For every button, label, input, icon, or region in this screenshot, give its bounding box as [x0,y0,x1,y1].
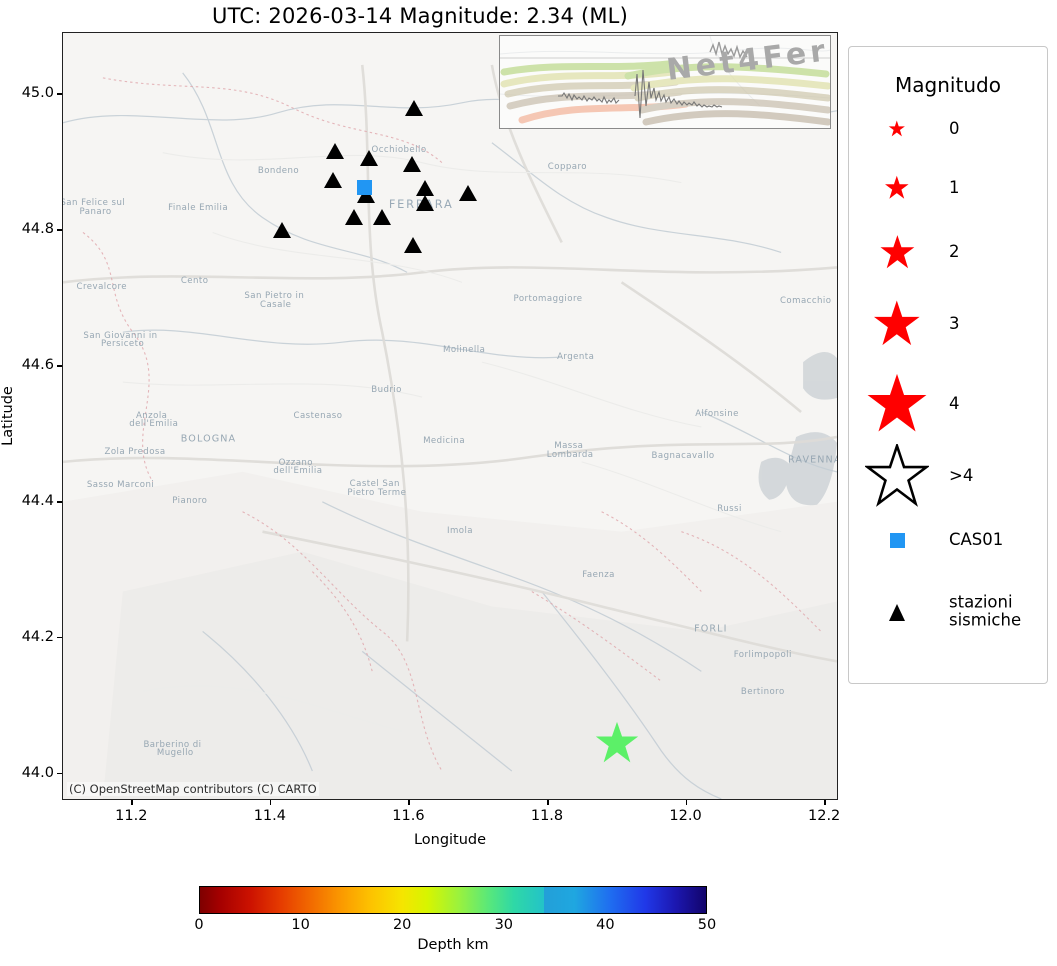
city-label: Pianoro [172,496,207,506]
y-axis-tick-label: 44.4 [14,493,54,509]
cas01-station-marker[interactable] [357,180,372,195]
colorbar-tick-label: 40 [596,917,614,933]
city-label: Forlimpopoli [734,650,792,660]
city-label: Castenaso [294,411,343,421]
city-label: dell'Emilia [129,419,178,429]
city-label: Medicina [423,436,465,446]
colorbar-label: Depth km [417,937,488,953]
x-axis-tick [824,800,826,805]
city-label: Lombarda [547,450,594,460]
city-label: Argenta [557,352,594,362]
legend-title: Magnitudo [849,73,1047,97]
legend-item-label: 2 [949,243,960,261]
y-axis-tick-label: 44.6 [14,357,54,373]
x-axis-tick-label: 11.4 [254,808,286,824]
net4fer-logo-inset: Net4Fer [499,35,831,129]
city-label: Mugello [157,748,194,758]
city-label: Persiceto [101,339,144,349]
x-axis-tick-label: 11.8 [531,808,563,824]
city-label: BOLOGNA [181,433,236,444]
legend-item-label: stazionisismiche [949,594,1021,631]
seismic-station-marker[interactable] [416,195,434,211]
city-label: Alfonsine [695,409,739,419]
y-axis-tick [57,365,62,367]
city-label: Occhiobello [372,145,427,155]
seismic-station-marker[interactable] [360,150,378,166]
y-axis-tick [57,773,62,775]
city-label: Bagnacavallo [652,451,715,461]
colorbar-tick-label: 0 [194,917,203,933]
seismic-station-marker[interactable] [326,143,344,159]
city-label: Panaro [80,207,112,217]
x-axis-tick-label: 11.2 [115,808,147,824]
x-axis-tick-label: 11.6 [392,808,424,824]
y-axis-tick-label: 44.2 [14,629,54,645]
city-label: Imola [447,526,473,536]
colorbar-tick-label: 30 [495,917,513,933]
seismic-station-marker[interactable] [459,185,477,201]
map-attribution: (C) OpenStreetMap contributors (C) CARTO [67,782,319,796]
legend-item-label: CAS01 [949,531,1003,549]
city-label: Finale Emilia [168,203,228,213]
city-label: Casale [260,300,291,310]
city-label: Crevalcore [77,282,128,292]
city-label: Comacchio [780,296,832,306]
city-label: Pietro Terme [347,488,406,498]
city-label: dell'Emilia [273,466,322,476]
legend-item-label: 4 [949,395,960,413]
colorbar-tick-label: 50 [698,917,716,933]
depth-colorbar[interactable] [199,886,707,914]
city-label: RAVENNA [788,454,838,465]
x-axis-tick [686,800,688,805]
seismic-station-marker[interactable] [324,172,342,188]
city-label: Budrio [371,385,402,395]
y-axis-tick [57,93,62,95]
page-title: UTC: 2026-03-14 Magnitude: 2.34 (ML) [0,4,840,28]
x-axis-tick-label: 12.0 [669,808,701,824]
legend-item-label: 3 [949,315,960,333]
legend-item-label: 0 [949,120,960,138]
city-label: Portomaggiore [514,294,583,304]
legend-item-label: >4 [949,467,973,485]
seismic-station-marker[interactable] [345,209,363,225]
earthquake-epicenter-star[interactable] [594,720,640,766]
seismic-station-marker[interactable] [416,180,434,196]
city-label: Faenza [582,570,615,580]
x-axis-tick [131,800,133,805]
y-axis-tick [57,637,62,639]
city-label: Copparo [548,162,587,172]
city-label: Cento [181,276,209,286]
x-axis-tick [408,800,410,805]
seismic-station-marker[interactable] [403,156,421,172]
city-label: Bondeno [258,166,299,176]
legend-panel: Magnitudo 01234>4CAS01stazionisismiche [848,46,1048,684]
map-axes[interactable]: CopparoOcchiobelloBondenoFERRARASan Feli… [62,32,838,800]
x-axis-tick-label: 12.2 [808,808,840,824]
y-axis-tick-label: 44.8 [14,221,54,237]
y-axis-tick [57,229,62,231]
city-label: FORLI [694,624,727,635]
seismic-station-marker[interactable] [373,209,391,225]
y-axis-label: Latitude [0,386,16,446]
city-label: Bertinoro [741,687,785,697]
city-label: Russi [717,504,742,514]
logo-artwork: Net4Fer [500,36,830,128]
y-axis-tick-label: 44.0 [14,765,54,781]
city-label: Molinella [443,345,485,355]
y-axis-tick-label: 45.0 [14,85,54,101]
x-axis-tick [547,800,549,805]
colorbar-tick-label: 20 [393,917,411,933]
x-axis-label: Longitude [414,832,486,848]
city-label: Sasso Marconi [87,480,154,490]
seismic-station-marker[interactable] [273,222,291,238]
city-label: San Felice sul [62,198,125,208]
x-axis-tick [270,800,272,805]
seismic-station-marker[interactable] [405,100,423,116]
city-label: Zola Predosa [105,447,166,457]
seismic-station-marker[interactable] [404,237,422,253]
y-axis-tick [57,501,62,503]
legend-item-label: 1 [949,179,960,197]
colorbar-tick-label: 10 [291,917,309,933]
